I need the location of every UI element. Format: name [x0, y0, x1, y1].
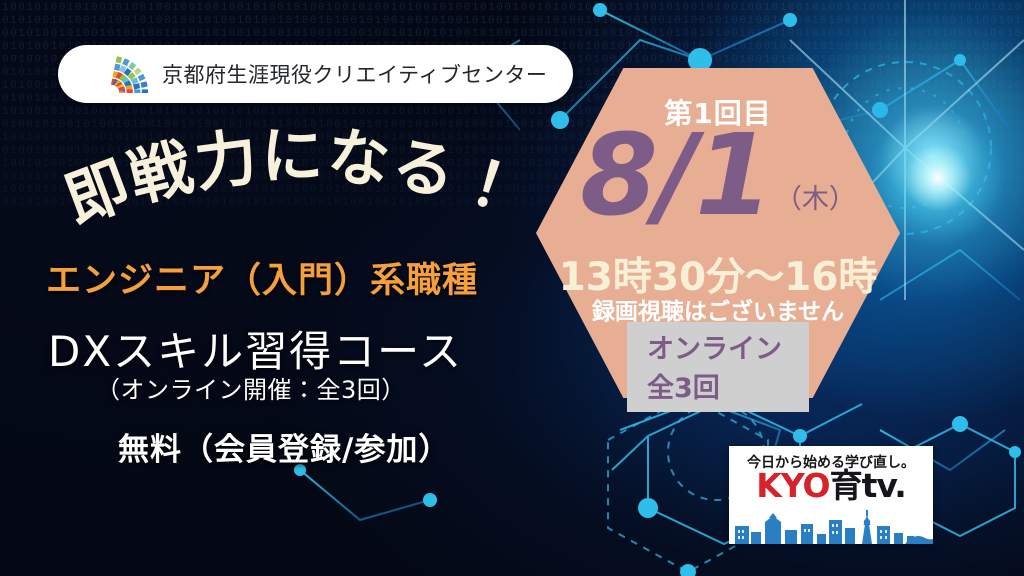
brand-name: KYO育tv. [729, 469, 933, 502]
day-of-week: （木） [775, 177, 856, 232]
format-badge: オンライン全3回 [627, 322, 809, 412]
svg-text:即戦力になる！: 即戦力になる！ [56, 119, 531, 238]
brand-name-red: KYO [756, 466, 829, 505]
fan-logo-icon [76, 55, 148, 93]
recording-note: 録画視聴はございません [536, 292, 900, 326]
headline-text: 即戦力になる！ [56, 119, 531, 238]
subtitle-orange: エンジニア（入門）系職種 [46, 252, 478, 303]
price-text: 無料（会員登録/参加） [118, 424, 450, 469]
kyoto-skyline-icon [729, 510, 933, 544]
date-row: 8/1 （木） [536, 120, 900, 232]
date-value: 8/1 [580, 120, 771, 232]
org-logo: 京都府生涯現役クリエイティブセンター [58, 45, 573, 103]
course-subtitle: （オンライン開催：全3回） [96, 370, 406, 405]
date-badge: 第1回目 8/1 （木） 13時30分〜16時 録画視聴はございません オンライ… [536, 68, 900, 398]
headline: 即戦力になる！ [62, 132, 502, 242]
promo-banner: 1001010010100101001001001001001010010100… [0, 0, 1024, 576]
brand-name-black: 育tv. [830, 466, 906, 505]
org-logo-name: 京都府生涯現役クリエイティブセンター [162, 59, 547, 89]
brand-logo: 今日から始める学び直し。 KYO育tv. [729, 446, 933, 544]
